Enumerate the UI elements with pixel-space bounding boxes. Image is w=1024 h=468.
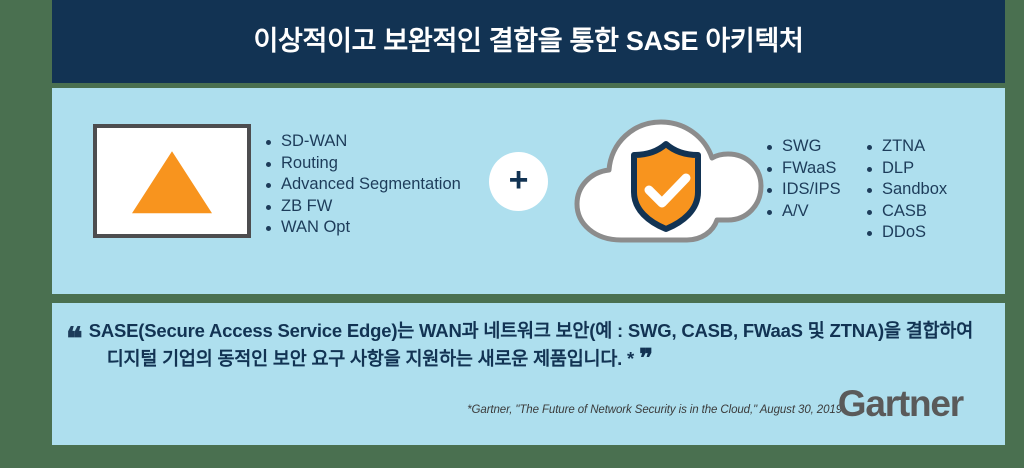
quote-line-2-wrap: 디지털 기업의 동적인 보안 요구 사항을 지원하는 새로운 제품입니다. *❞ (89, 345, 973, 373)
quote-close-icon: ❞ (639, 344, 653, 373)
page-title: 이상적이고 보완적인 결합을 통한 SASE 아키텍처 (253, 25, 803, 57)
list-item-label: ZTNA (882, 137, 925, 155)
triangle-icon (132, 151, 212, 213)
list-item-label: SD-WAN (281, 132, 347, 150)
list-item-label: IDS/IPS (782, 180, 841, 198)
sd-wan-feature-list: SD-WAN Routing Advanced Segmentation ZB … (264, 131, 461, 239)
diagram-panel: SD-WAN Routing Advanced Segmentation ZB … (52, 88, 1005, 294)
plus-icon: + (509, 163, 529, 197)
list-item-label: A/V (782, 202, 809, 220)
slide-root: 이상적이고 보완적인 결합을 통한 SASE 아키텍처 SD-WAN Routi… (0, 0, 1024, 468)
source-footnote: *Gartner, "The Future of Network Securit… (52, 404, 842, 416)
list-item-label: Sandbox (882, 180, 947, 198)
list-item: WAN Opt (264, 217, 461, 239)
list-item-label: Advanced Segmentation (281, 175, 461, 193)
quote-text: SASE(Secure Access Service Edge)는 WAN과 네… (89, 317, 973, 373)
quote-panel: ❝ SASE(Secure Access Service Edge)는 WAN과… (52, 303, 1005, 445)
list-item: DLP (865, 158, 947, 180)
list-item: A/V (765, 201, 841, 223)
list-item-label: FWaaS (782, 159, 836, 177)
list-item: DDoS (865, 222, 947, 244)
quote-line-1: SASE(Secure Access Service Edge)는 WAN과 네… (89, 320, 973, 341)
list-item-label: DDoS (882, 223, 926, 241)
list-item: ZB FW (264, 196, 461, 218)
list-item: FWaaS (765, 158, 841, 180)
header-bar: 이상적이고 보완적인 결합을 통한 SASE 아키텍처 (52, 0, 1005, 83)
quote-open-icon: ❝ (66, 323, 83, 354)
list-item: CASB (865, 201, 947, 223)
list-item-label: ZB FW (281, 197, 332, 215)
list-item-label: WAN Opt (281, 218, 350, 236)
list-item: Sandbox (865, 179, 947, 201)
cloud-security-icon (567, 106, 765, 248)
quote-line-2: 디지털 기업의 동적인 보안 요구 사항을 지원하는 새로운 제품입니다. * (107, 348, 634, 369)
list-item: SD-WAN (264, 131, 461, 153)
list-item-label: CASB (882, 202, 927, 220)
list-item: Routing (264, 153, 461, 175)
list-item: ZTNA (865, 136, 947, 158)
list-item-label: DLP (882, 159, 914, 177)
plus-combiner-badge: + (489, 152, 548, 211)
security-feature-list-1: SWG FWaaS IDS/IPS A/V (765, 136, 841, 222)
list-item: SWG (765, 136, 841, 158)
list-item-label: SWG (782, 137, 821, 155)
gartner-logo: Gartner (838, 385, 963, 422)
security-feature-list-2: ZTNA DLP Sandbox CASB DDoS (865, 136, 947, 244)
list-item-label: Routing (281, 154, 338, 172)
list-item: Advanced Segmentation (264, 174, 461, 196)
list-item: IDS/IPS (765, 179, 841, 201)
sd-wan-appliance-icon (93, 124, 251, 238)
quote-block: ❝ SASE(Secure Access Service Edge)는 WAN과… (66, 317, 995, 373)
